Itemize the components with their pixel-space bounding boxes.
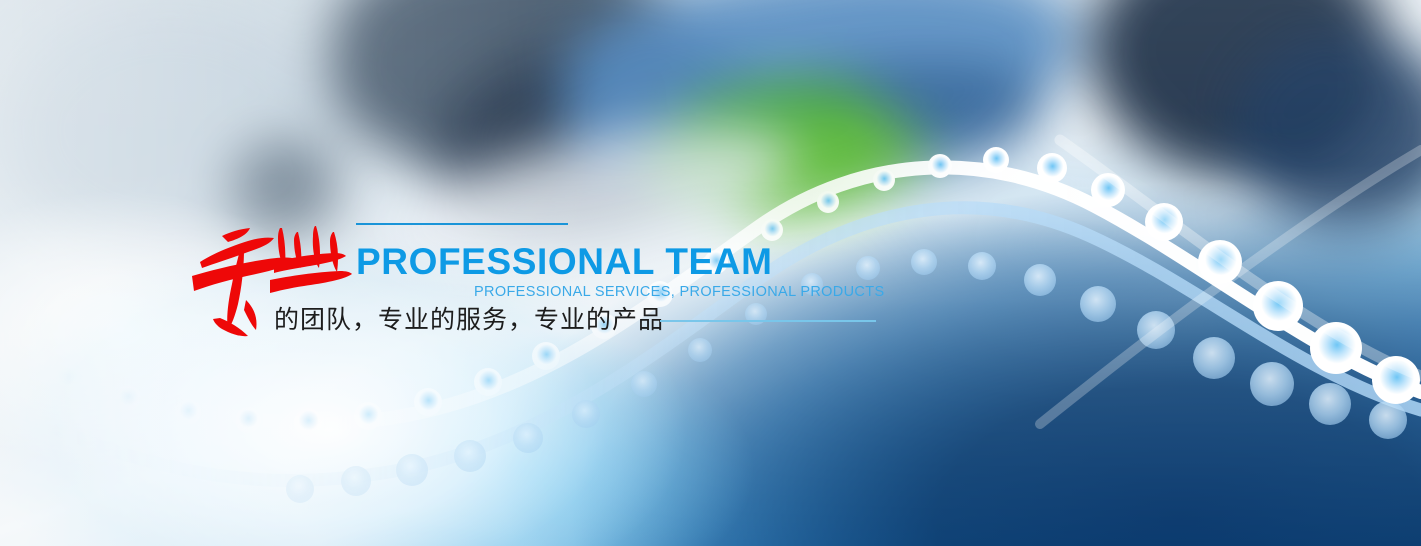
page-title: PROFESSIONAL TEAM	[356, 243, 773, 280]
subtitle: PROFESSIONAL SERVICES, PROFESSIONAL PROD…	[474, 285, 884, 300]
hero-banner: PROFESSIONAL TEAM PROFESSIONAL SERVICES,…	[0, 0, 1421, 546]
tagline-chinese: 的团队，专业的服务，专业的产品	[274, 305, 664, 335]
rule-below-subtitle	[660, 320, 876, 322]
banner-content: PROFESSIONAL TEAM PROFESSIONAL SERVICES,…	[0, 0, 1421, 546]
rule-above-title	[356, 223, 568, 225]
